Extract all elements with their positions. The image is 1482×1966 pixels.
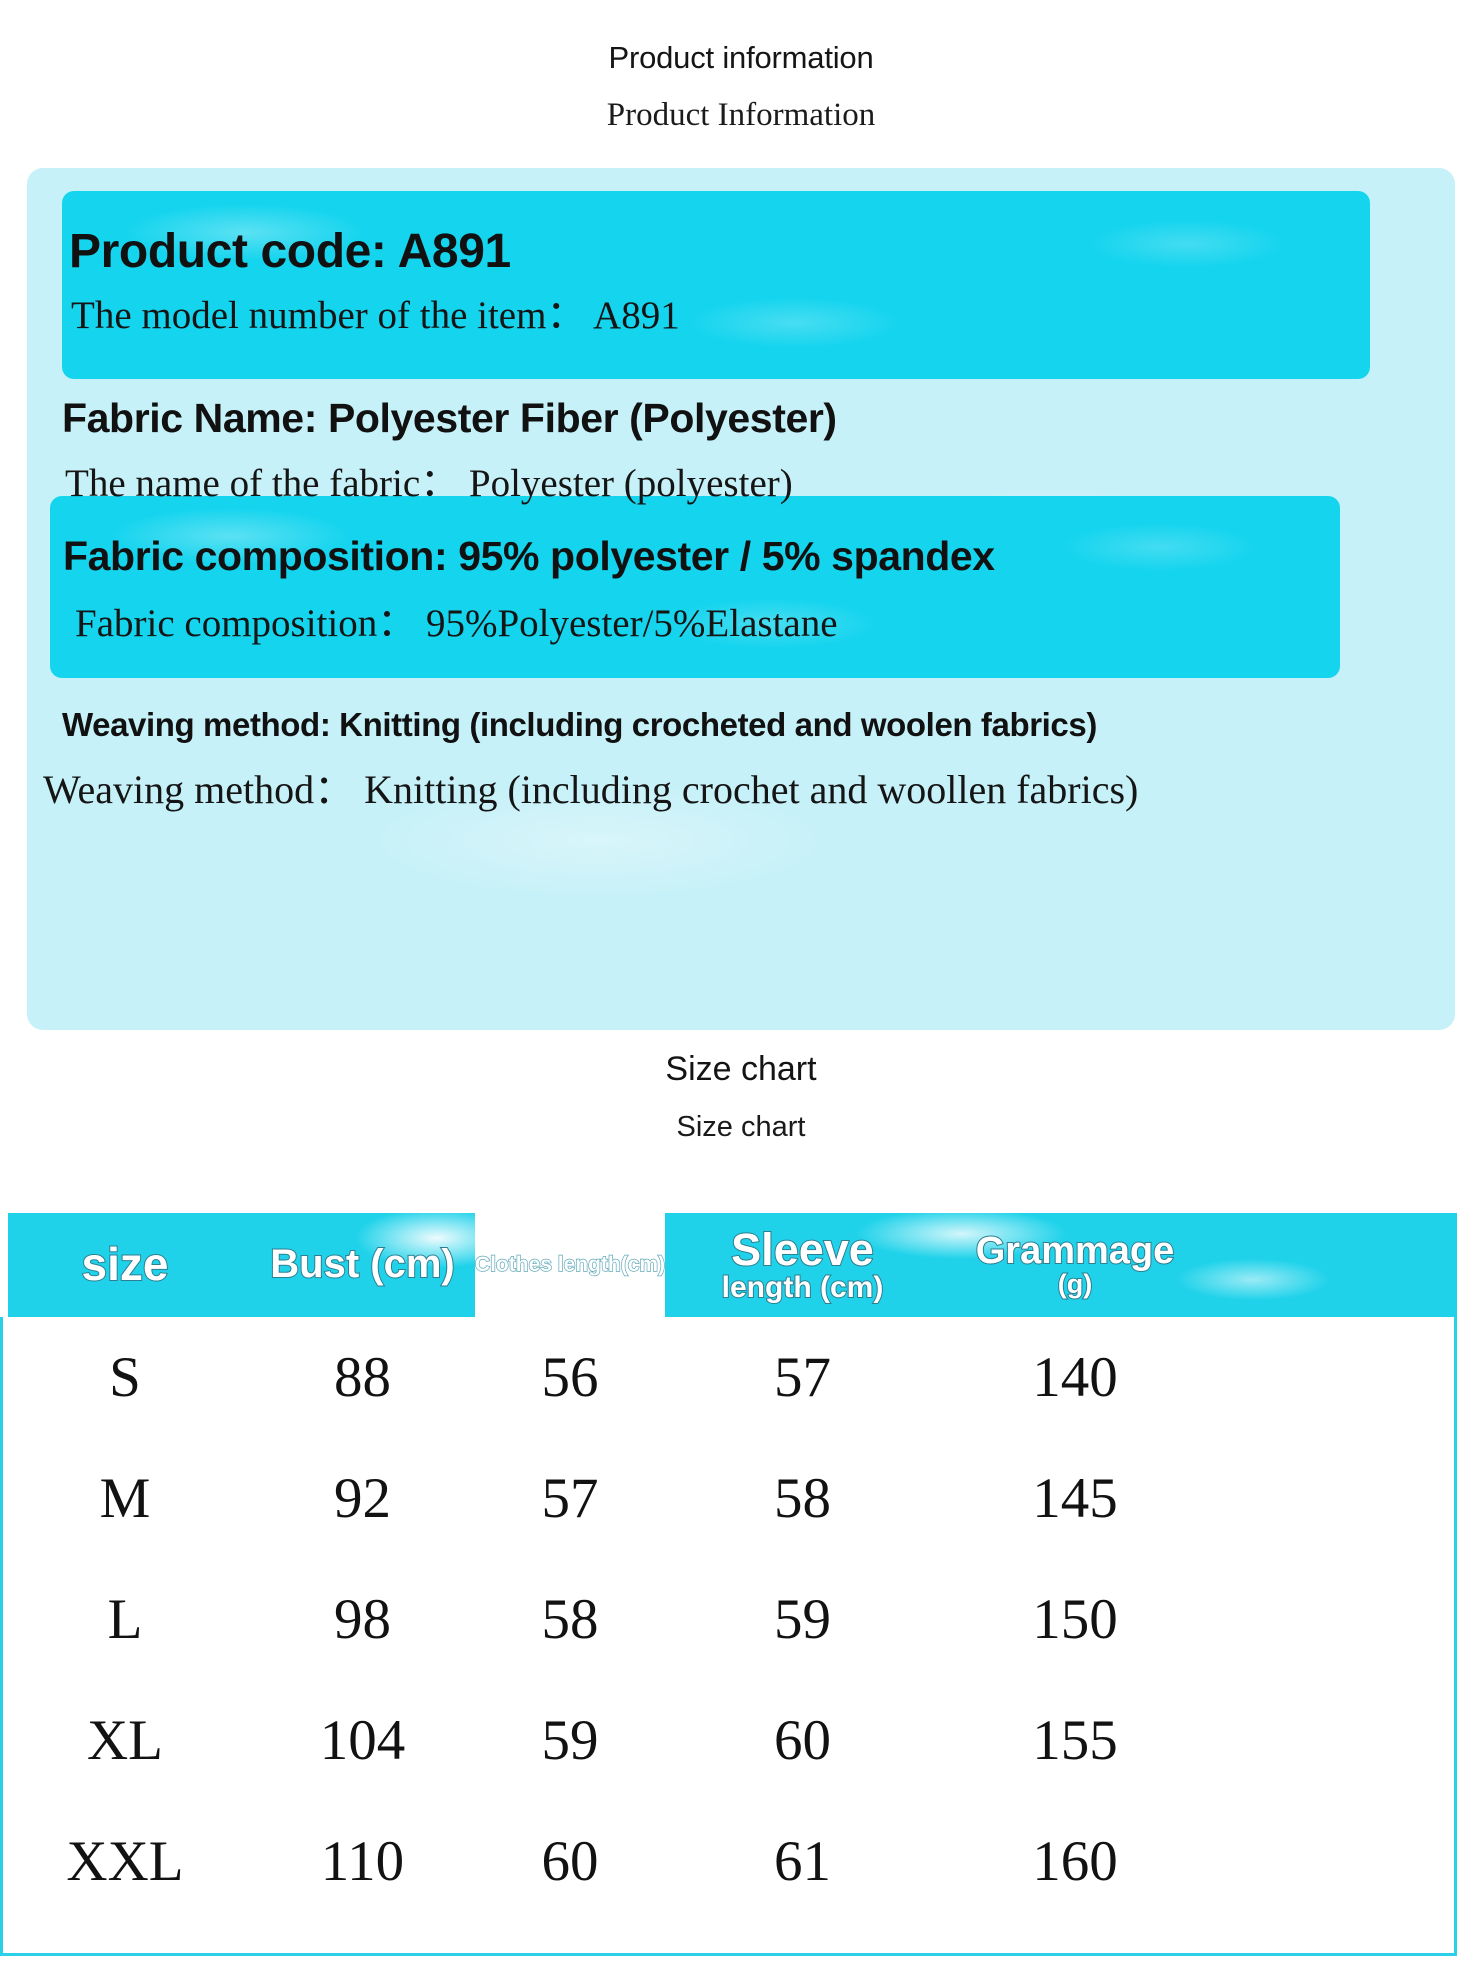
cell-sleeve: 58: [665, 1438, 940, 1559]
product-code-subtitle: The model number of the item： A891: [71, 296, 680, 335]
cell-length: 57: [475, 1438, 665, 1559]
column-header-sleeve-length-label: Sleevelength (cm): [722, 1227, 884, 1303]
sleeve-header-line2: length (cm): [722, 1271, 884, 1304]
cell-sleeve: 57: [665, 1317, 940, 1438]
cell-size: L: [0, 1559, 250, 1680]
fabric-composition-highlight-band: [50, 496, 1340, 678]
page-title-sans: Product information: [0, 0, 1482, 73]
product-info-page: Product information Product Information …: [0, 0, 1482, 1966]
size-chart-title-primary: Size chart: [0, 1052, 1482, 1086]
weaving-method-subtitle: Weaving method： Knitting (including croc…: [43, 770, 1138, 810]
product-code-highlight-band: [62, 191, 1370, 379]
cell-grammage: 160: [940, 1801, 1210, 1922]
grammage-header-line2: (g): [976, 1271, 1175, 1298]
page-title-serif: Product Information: [0, 73, 1482, 132]
table-border-bottom: [0, 1953, 1457, 1956]
cell-grammage: 150: [940, 1559, 1210, 1680]
cell-bust: 92: [250, 1438, 475, 1559]
column-header-size-label: size: [82, 1241, 169, 1289]
cell-sleeve: 60: [665, 1680, 940, 1801]
column-header-size: size: [0, 1213, 250, 1317]
cell-length: 56: [475, 1317, 665, 1438]
cell-size: M: [0, 1438, 250, 1559]
size-chart-table: size Bust (cm) Clothes length(cm) Sleeve…: [0, 1213, 1457, 1953]
fabric-name-subtitle: The name of the fabric： Polyester (polye…: [65, 464, 793, 503]
cell-size: S: [0, 1317, 250, 1438]
cell-sleeve: 59: [665, 1559, 940, 1680]
product-code-label: Product code: A891: [69, 228, 511, 276]
cell-grammage: 155: [940, 1680, 1210, 1801]
column-header-clothes-length-label: Clothes length(cm): [475, 1254, 665, 1276]
column-header-bust: Bust (cm): [250, 1213, 475, 1317]
fabric-composition-subtitle: Fabric composition： 95%Polyester/5%Elast…: [75, 604, 838, 643]
cell-length: 59: [475, 1680, 665, 1801]
sleeve-header-line1: Sleeve: [722, 1227, 884, 1272]
fabric-composition-label: Fabric composition: 95% polyester / 5% s…: [63, 536, 995, 577]
cell-bust: 88: [250, 1317, 475, 1438]
size-chart-body: S 88 56 57 140 M 92 57 58 145 L 98 58 59…: [0, 1317, 1457, 1922]
cell-bust: 110: [250, 1801, 475, 1922]
column-header-clothes-length: Clothes length(cm): [475, 1213, 665, 1317]
cell-grammage: 145: [940, 1438, 1210, 1559]
fabric-name-label: Fabric Name: Polyester Fiber (Polyester): [62, 398, 837, 439]
weaving-method-label: Weaving method: Knitting (including croc…: [62, 708, 1097, 741]
cell-size: XL: [0, 1680, 250, 1801]
cell-length: 58: [475, 1559, 665, 1680]
column-header-grammage: Grammage(g): [940, 1213, 1210, 1317]
table-row: S 88 56 57 140: [0, 1317, 1457, 1438]
size-chart-title-secondary: Size chart: [0, 1113, 1482, 1142]
cell-sleeve: 61: [665, 1801, 940, 1922]
size-chart-header-row: size Bust (cm) Clothes length(cm) Sleeve…: [0, 1213, 1457, 1317]
column-header-bust-label: Bust (cm): [270, 1244, 454, 1286]
cell-size: XXL: [0, 1801, 250, 1922]
grammage-header-line1: Grammage: [976, 1230, 1175, 1272]
product-information-panel: Product code: A891 The model number of t…: [27, 168, 1455, 1030]
cell-grammage: 140: [940, 1317, 1210, 1438]
cell-bust: 104: [250, 1680, 475, 1801]
cell-bust: 98: [250, 1559, 475, 1680]
column-header-sleeve-length: Sleevelength (cm): [665, 1213, 940, 1317]
column-header-grammage-label: Grammage(g): [976, 1232, 1175, 1299]
table-row: L 98 58 59 150: [0, 1559, 1457, 1680]
table-row: XXL 110 60 61 160: [0, 1801, 1457, 1922]
cell-length: 60: [475, 1801, 665, 1922]
table-row: M 92 57 58 145: [0, 1438, 1457, 1559]
table-row: XL 104 59 60 155: [0, 1680, 1457, 1801]
